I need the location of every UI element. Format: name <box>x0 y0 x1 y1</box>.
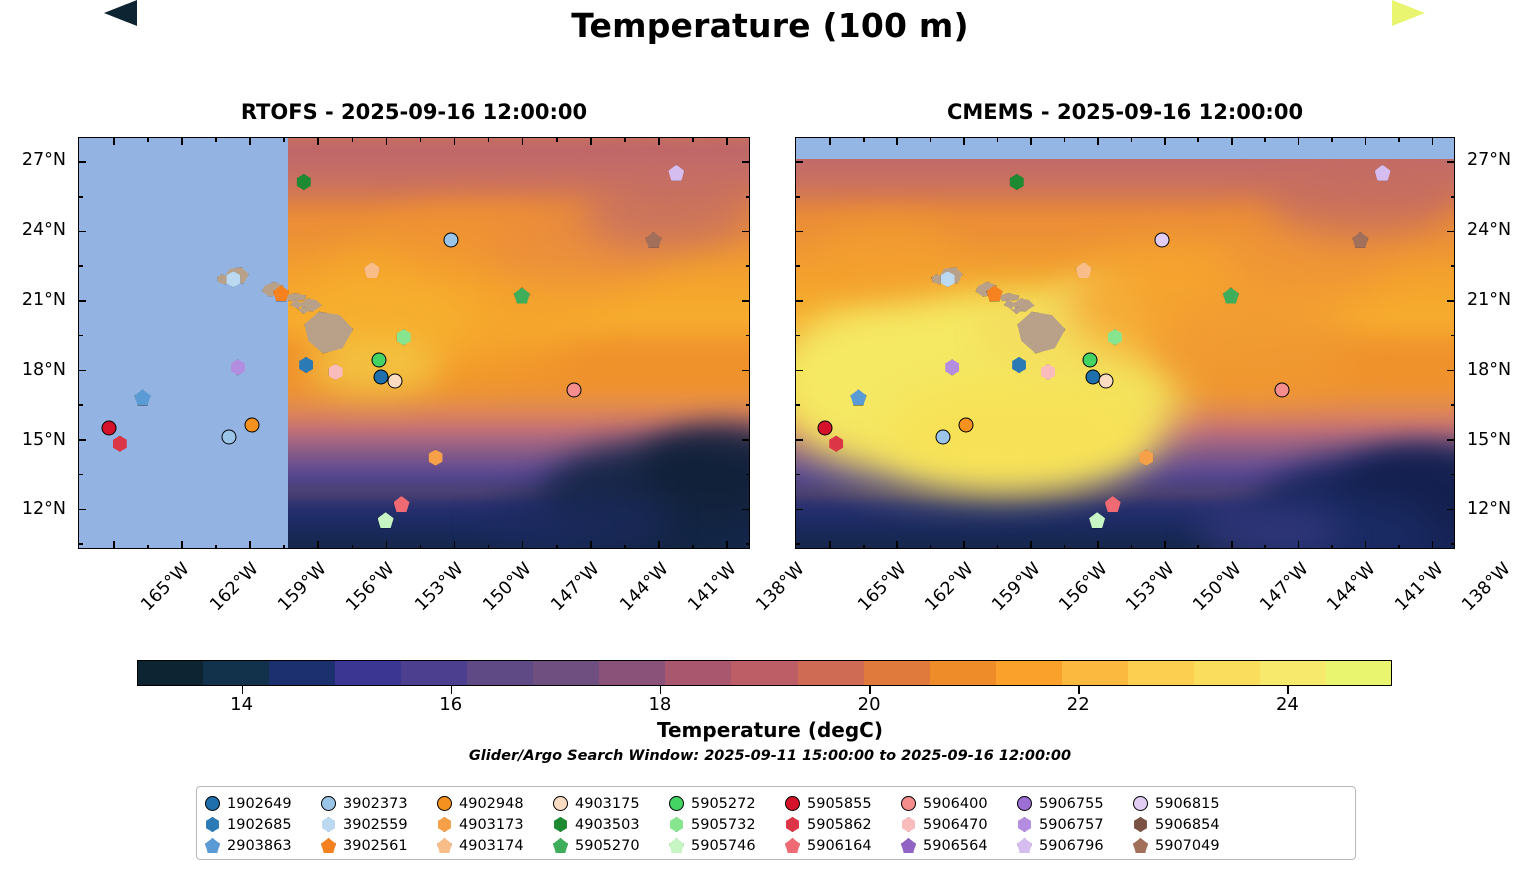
y-tick-label: 27°N <box>1467 150 1511 170</box>
y-tick-label: 12°N <box>1467 499 1511 519</box>
marker-glyph <box>514 288 530 304</box>
argo-marker-5905746[interactable] <box>378 512 394 528</box>
y-tick-label: 15°N <box>1467 430 1511 450</box>
temperature-contour <box>1158 290 1355 397</box>
argo-marker-4902948[interactable] <box>244 418 259 433</box>
legend-label: 5905855 <box>807 796 872 812</box>
temperature-field <box>796 138 1454 548</box>
legend-marker-icon <box>1017 796 1032 811</box>
x-tick-label: 144°W <box>1324 559 1380 615</box>
colorbar-tick-label: 20 <box>858 694 881 715</box>
marker-glyph <box>1138 450 1154 466</box>
marker-glyph <box>828 436 844 452</box>
marker-glyph <box>444 232 459 247</box>
colorbar-tick-label: 14 <box>230 694 253 715</box>
argo-marker-5906757[interactable] <box>230 359 246 375</box>
x-tick <box>454 541 456 549</box>
panel-title-rtofs: RTOFS - 2025-09-16 12:00:00 <box>78 100 750 124</box>
legend-marker-icon <box>321 796 336 811</box>
colorbar-tick <box>242 686 244 694</box>
y-tick-label: 15°N <box>0 430 66 450</box>
y-tick <box>78 509 86 511</box>
argo-marker-2903863[interactable] <box>135 389 151 405</box>
argo-marker-5906470[interactable] <box>328 364 344 380</box>
legend-label: 5906815 <box>1155 796 1220 812</box>
colorbar-tick <box>451 686 453 694</box>
x-tick <box>1097 137 1099 145</box>
x-tick-minor <box>147 137 149 142</box>
x-tick-minor <box>1331 137 1333 142</box>
x-tick-label: 147°W <box>548 559 604 615</box>
legend-label: 5906400 <box>923 796 988 812</box>
x-tick <box>181 541 183 549</box>
legend-marker-icon <box>1017 838 1032 853</box>
y-tick-label: 21°N <box>0 290 66 310</box>
argo-marker-3902561[interactable] <box>987 285 1003 301</box>
x-tick <box>590 137 592 145</box>
x-tick <box>1432 137 1434 145</box>
argo-marker-5905855[interactable] <box>101 420 116 435</box>
y-tick <box>742 509 750 511</box>
x-tick-minor <box>624 545 626 550</box>
marker-glyph <box>936 429 951 444</box>
legend-marker-icon <box>901 838 916 853</box>
x-tick-minor <box>997 137 999 142</box>
legend-marker-icon <box>901 817 916 832</box>
legend-label: 4903173 <box>459 817 524 833</box>
y-tick-minor <box>795 335 800 337</box>
argo-marker-3902559[interactable] <box>940 271 956 287</box>
y-tick <box>795 300 803 302</box>
x-tick <box>249 541 251 549</box>
map-panel-cmems[interactable] <box>795 137 1455 549</box>
argo-marker-5906470[interactable] <box>1040 364 1056 380</box>
temperature-contour <box>1263 154 1455 236</box>
y-tick <box>742 370 750 372</box>
x-tick <box>1030 137 1032 145</box>
legend-item-5906796[interactable]: 5906796 <box>1017 838 1133 854</box>
y-tick <box>78 439 86 441</box>
float-legend: 1902649390237349029484903175590527259058… <box>196 786 1356 860</box>
x-tick-minor <box>215 137 217 142</box>
x-tick-label: 141°W <box>684 559 740 615</box>
legend-item-5906757[interactable]: 5906757 <box>1017 817 1133 833</box>
y-tick-minor <box>78 404 83 406</box>
y-tick-label: 21°N <box>1467 290 1511 310</box>
marker-glyph <box>944 359 960 375</box>
argo-marker-3902373[interactable] <box>936 429 951 444</box>
legend-marker-icon <box>437 817 452 832</box>
x-tick <box>1298 541 1300 549</box>
marker-glyph <box>1009 174 1025 190</box>
y-tick <box>78 161 86 163</box>
legend-item-5905746[interactable]: 5905746 <box>669 838 785 854</box>
argo-marker-5905746[interactable] <box>1089 512 1105 528</box>
y-tick-minor <box>746 404 751 406</box>
x-tick-minor <box>420 545 422 550</box>
y-tick <box>1447 300 1455 302</box>
x-tick-minor <box>1197 545 1199 550</box>
x-tick-minor <box>863 137 865 142</box>
x-tick <box>658 541 660 549</box>
temperature-contour <box>888 380 1151 487</box>
legend-marker-icon <box>205 838 220 853</box>
y-tick-minor <box>1451 404 1456 406</box>
legend-label: 5906796 <box>1039 838 1104 854</box>
y-tick <box>78 300 86 302</box>
x-tick-label: 162°W <box>206 559 262 615</box>
x-tick-minor <box>863 545 865 550</box>
legend-label: 5906470 <box>923 817 988 833</box>
x-tick-minor <box>1064 137 1066 142</box>
colorbar-segment <box>599 660 665 686</box>
argo-marker-2903863[interactable] <box>850 389 866 405</box>
x-tick <box>113 137 115 145</box>
x-tick-label: 156°W <box>343 559 399 615</box>
argo-marker-4903503[interactable] <box>1009 174 1025 190</box>
marker-glyph <box>221 429 236 444</box>
legend-item-1902685[interactable]: 1902685 <box>205 817 321 833</box>
panel-title-cmems: CMEMS - 2025-09-16 12:00:00 <box>795 100 1455 124</box>
x-tick-minor <box>1131 545 1133 550</box>
legend-label: 5906564 <box>923 838 988 854</box>
legend-label: 5906854 <box>1155 817 1220 833</box>
x-tick-label: 147°W <box>1257 559 1313 615</box>
legend-item-4903174[interactable]: 4903174 <box>437 838 553 854</box>
colorbar-segment <box>467 660 533 686</box>
colorbar-tick <box>1078 686 1080 694</box>
argo-marker-4903173[interactable] <box>428 450 444 466</box>
legend-item-5906854[interactable]: 5906854 <box>1133 817 1249 833</box>
y-tick-minor <box>795 404 800 406</box>
marker-glyph <box>1154 232 1169 247</box>
y-tick <box>742 300 750 302</box>
x-tick <box>386 137 388 145</box>
colorbar-segment <box>1194 660 1260 686</box>
legend-item-5905732[interactable]: 5905732 <box>669 817 785 833</box>
marker-glyph <box>1352 232 1368 248</box>
colorbar-tick <box>660 686 662 694</box>
argo-marker-5906400[interactable] <box>567 383 582 398</box>
argo-marker-4903175[interactable] <box>387 374 402 389</box>
y-tick <box>795 509 803 511</box>
y-tick-minor <box>1451 543 1456 545</box>
argo-marker-5905272[interactable] <box>1083 353 1098 368</box>
colorbar-segment <box>930 660 996 686</box>
x-tick <box>590 541 592 549</box>
argo-marker-3902373b[interactable] <box>221 429 236 444</box>
legend-label: 5905746 <box>691 838 756 854</box>
legend-marker-icon <box>785 796 800 811</box>
x-tick-minor <box>692 545 694 550</box>
marker-glyph <box>1105 496 1121 512</box>
marker-glyph <box>987 285 1003 301</box>
argo-marker-5905270[interactable] <box>1223 288 1239 304</box>
argo-marker-5905862[interactable] <box>828 436 844 452</box>
legend-item-5906164[interactable]: 5906164 <box>785 838 901 854</box>
x-tick-label: 150°W <box>1190 559 1246 615</box>
legend-item-5905270[interactable]: 5905270 <box>553 838 669 854</box>
argo-marker-5905855[interactable] <box>817 420 832 435</box>
marker-glyph <box>1223 288 1239 304</box>
legend-marker-icon <box>1133 796 1148 811</box>
x-tick-minor <box>556 545 558 550</box>
argo-marker-4903173[interactable] <box>1138 450 1154 466</box>
x-tick <box>896 137 898 145</box>
x-tick-minor <box>930 137 932 142</box>
marker-glyph <box>850 389 866 405</box>
argo-marker-5905732[interactable] <box>396 329 412 345</box>
argo-marker-3902561[interactable] <box>273 285 289 301</box>
argo-marker-3902373[interactable] <box>444 232 459 247</box>
y-tick-minor <box>1451 196 1456 198</box>
x-tick-minor <box>488 545 490 550</box>
x-tick <box>658 137 660 145</box>
y-tick-minor <box>78 335 83 337</box>
legend-label: 3902373 <box>343 796 408 812</box>
legend-label: 1902685 <box>227 817 292 833</box>
y-tick <box>1447 231 1455 233</box>
temperature-contour <box>481 491 669 549</box>
legend-marker-icon <box>553 817 568 832</box>
legend-item-5905272[interactable]: 5905272 <box>669 796 785 812</box>
x-tick-minor <box>1064 545 1066 550</box>
marker-glyph <box>1099 374 1114 389</box>
argo-marker-5906164[interactable] <box>1105 496 1121 512</box>
temperature-contour <box>387 204 548 270</box>
argo-marker-5907049[interactable] <box>646 232 662 248</box>
marker-glyph <box>428 450 444 466</box>
marker-glyph <box>1083 353 1098 368</box>
legend-label: 5905272 <box>691 796 756 812</box>
legend-item-5906755[interactable]: 5906755 <box>1017 796 1133 812</box>
legend-label: 1902649 <box>227 796 292 812</box>
x-tick-label: 165°W <box>854 559 910 615</box>
x-tick <box>896 541 898 549</box>
argo-marker-5906400[interactable] <box>1275 383 1290 398</box>
y-tick <box>742 439 750 441</box>
y-tick-minor <box>746 543 751 545</box>
x-tick <box>1365 541 1367 549</box>
legend-label: 3902561 <box>343 838 408 854</box>
x-tick-minor <box>624 137 626 142</box>
x-tick-minor <box>283 545 285 550</box>
argo-marker-4903174[interactable] <box>1076 262 1092 278</box>
x-tick <box>249 137 251 145</box>
marker-glyph <box>112 436 128 452</box>
marker-glyph <box>958 418 973 433</box>
y-tick-minor <box>78 474 83 476</box>
legend-marker-icon <box>321 838 336 853</box>
x-tick <box>386 541 388 549</box>
legend-item-4902948[interactable]: 4902948 <box>437 796 553 812</box>
colorbar-segment <box>533 660 599 686</box>
y-tick <box>742 231 750 233</box>
legend-marker-icon <box>785 838 800 853</box>
y-tick-label: 18°N <box>1467 360 1511 380</box>
argo-marker-5906796[interactable] <box>668 165 684 181</box>
x-tick <box>1030 541 1032 549</box>
argo-marker-1902685[interactable] <box>1011 357 1027 373</box>
legend-item-5906470[interactable]: 5906470 <box>901 817 1017 833</box>
x-tick-label: 159°W <box>988 559 1044 615</box>
x-tick-label: 165°W <box>138 559 194 615</box>
argo-marker-4902948[interactable] <box>958 418 973 433</box>
marker-glyph <box>1375 165 1391 181</box>
argo-marker-5906796[interactable] <box>1375 165 1391 181</box>
marker-glyph <box>101 420 116 435</box>
x-tick <box>1097 541 1099 549</box>
y-tick <box>795 231 803 233</box>
marker-glyph <box>394 496 410 512</box>
argo-marker-5906164[interactable] <box>394 496 410 512</box>
y-tick-minor <box>746 196 751 198</box>
legend-item-2903863[interactable]: 2903863 <box>205 838 321 854</box>
marker-glyph <box>328 364 344 380</box>
legend-item-1902649[interactable]: 1902649 <box>205 796 321 812</box>
legend-marker-icon <box>553 796 568 811</box>
argo-marker-5906757[interactable] <box>944 359 960 375</box>
x-tick <box>113 541 115 549</box>
legend-item-5906564[interactable]: 5906564 <box>901 838 1017 854</box>
x-tick-minor <box>1197 137 1199 142</box>
legend-item-5907049[interactable]: 5907049 <box>1133 838 1249 854</box>
y-tick-minor <box>746 265 751 267</box>
x-tick-minor <box>997 545 999 550</box>
y-tick <box>78 370 86 372</box>
y-tick-label: 18°N <box>0 360 66 380</box>
legend-item-5906815[interactable]: 5906815 <box>1133 796 1249 812</box>
y-tick <box>78 231 86 233</box>
argo-marker-3902559[interactable] <box>225 271 241 287</box>
argo-marker-5905272[interactable] <box>371 353 386 368</box>
argo-marker-4903174[interactable] <box>364 262 380 278</box>
search-window-caption: Glider/Argo Search Window: 2025-09-11 15… <box>0 748 1540 764</box>
marker-glyph <box>1089 512 1105 528</box>
argo-marker-5905270[interactable] <box>514 288 530 304</box>
x-tick-minor <box>1331 545 1333 550</box>
marker-glyph <box>1011 357 1027 373</box>
x-tick-minor <box>147 545 149 550</box>
x-tick-label: 153°W <box>411 559 467 615</box>
argo-marker-4903503[interactable] <box>296 174 312 190</box>
x-tick-minor <box>1264 137 1266 142</box>
legend-label: 5907049 <box>1155 838 1220 854</box>
colorbar-segment <box>665 660 731 686</box>
legend-marker-icon <box>437 838 452 853</box>
x-tick <box>963 137 965 145</box>
marker-glyph <box>364 262 380 278</box>
colorbar-label: Temperature (degC) <box>0 718 1540 742</box>
colorbar-tick-label: 22 <box>1067 694 1090 715</box>
map-panel-rtofs[interactable] <box>78 137 750 549</box>
colorbar-segment <box>864 660 930 686</box>
x-tick-label: 150°W <box>479 559 535 615</box>
x-tick-minor <box>352 137 354 142</box>
argo-marker-5905862[interactable] <box>112 436 128 452</box>
legend-label: 5905732 <box>691 817 756 833</box>
x-tick-label: 138°W <box>1458 559 1514 615</box>
legend-item-4903503[interactable]: 4903503 <box>553 817 669 833</box>
marker-glyph <box>225 271 241 287</box>
colorbar-segment <box>269 660 335 686</box>
x-tick <box>317 137 319 145</box>
x-tick-label: 141°W <box>1391 559 1447 615</box>
legend-item-3902561[interactable]: 3902561 <box>321 838 437 854</box>
legend-item-4903173[interactable]: 4903173 <box>437 817 553 833</box>
colorbar-segment <box>203 660 269 686</box>
colorbar-segment <box>1326 660 1392 686</box>
legend-item-5906400[interactable]: 5906400 <box>901 796 1017 812</box>
temperature-contour <box>582 175 751 249</box>
top-edge-band <box>796 138 1454 159</box>
y-tick-label: 27°N <box>0 150 66 170</box>
legend-label: 5905270 <box>575 838 640 854</box>
y-tick <box>1447 161 1455 163</box>
argo-marker-5907049[interactable] <box>1352 232 1368 248</box>
legend-marker-icon <box>437 796 452 811</box>
marker-glyph <box>378 512 394 528</box>
y-tick <box>1447 509 1455 511</box>
marker-glyph <box>135 389 151 405</box>
page-title: Temperature (100 m) <box>0 6 1540 45</box>
legend-marker-icon <box>1017 817 1032 832</box>
y-tick-minor <box>795 474 800 476</box>
legend-label: 2903863 <box>227 838 292 854</box>
y-tick-label: 24°N <box>0 220 66 240</box>
argo-marker-1902685[interactable] <box>298 357 314 373</box>
colorbar-tick-label: 24 <box>1276 694 1299 715</box>
colorbar-segment <box>1062 660 1128 686</box>
colorbar-segment <box>996 660 1062 686</box>
colorbar-tick <box>1287 686 1289 694</box>
argo-marker-5906815[interactable] <box>1154 232 1169 247</box>
argo-marker-4903175[interactable] <box>1099 374 1114 389</box>
x-tick-minor <box>488 137 490 142</box>
x-tick <box>522 541 524 549</box>
colorbar[interactable] <box>137 660 1392 686</box>
legend-label: 4903503 <box>575 817 640 833</box>
legend-item-3902559[interactable]: 3902559 <box>321 817 437 833</box>
y-tick-label: 12°N <box>0 499 66 519</box>
legend-item-5905862[interactable]: 5905862 <box>785 817 901 833</box>
y-tick-minor <box>1451 474 1456 476</box>
legend-marker-icon <box>205 796 220 811</box>
x-tick <box>963 541 965 549</box>
legend-label: 5906757 <box>1039 817 1104 833</box>
argo-marker-5905732[interactable] <box>1107 329 1123 345</box>
colorbar-segment <box>401 660 467 686</box>
legend-item-3902373[interactable]: 3902373 <box>321 796 437 812</box>
x-tick-minor <box>1398 545 1400 550</box>
y-tick-minor <box>795 543 800 545</box>
marker-glyph <box>668 165 684 181</box>
colorbar-tick-label: 16 <box>439 694 462 715</box>
marker-glyph <box>646 232 662 248</box>
marker-glyph <box>273 285 289 301</box>
x-tick <box>317 541 319 549</box>
legend-item-4903175[interactable]: 4903175 <box>553 796 669 812</box>
marker-glyph <box>298 357 314 373</box>
x-tick-minor <box>692 137 694 142</box>
y-tick <box>795 439 803 441</box>
marker-glyph <box>244 418 259 433</box>
x-tick-minor <box>215 545 217 550</box>
x-tick <box>454 137 456 145</box>
y-tick-label: 24°N <box>1467 220 1511 240</box>
marker-glyph <box>1107 329 1123 345</box>
legend-item-5905855[interactable]: 5905855 <box>785 796 901 812</box>
